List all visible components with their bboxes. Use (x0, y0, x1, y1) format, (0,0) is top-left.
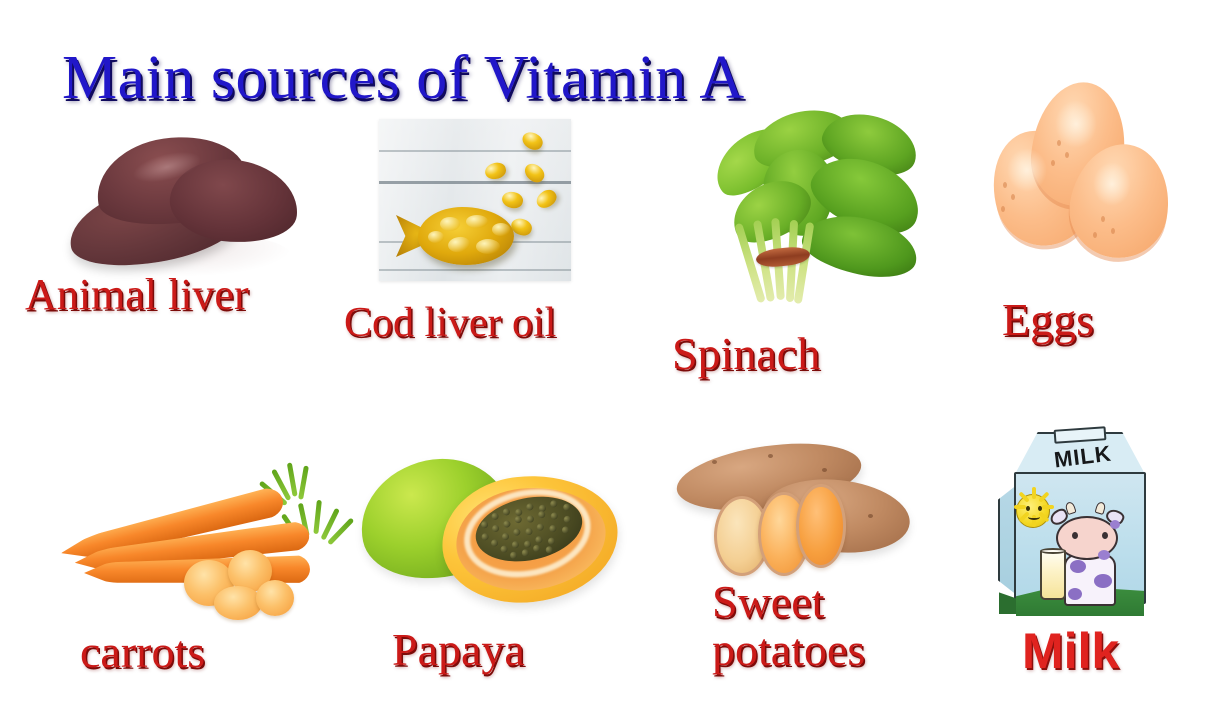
papaya-seed (513, 528, 521, 536)
label-animal-liver: Animal liver (25, 272, 249, 318)
page-title: Main sources of Vitamin A (62, 47, 745, 109)
papaya-seed (532, 544, 540, 552)
cow-eye (1072, 532, 1078, 539)
cow-spot (1094, 574, 1112, 588)
three-eggs-illustration (993, 82, 1179, 262)
skin-spot (822, 468, 827, 472)
spinach-bunch-photo (706, 110, 928, 310)
skin-spot (868, 514, 873, 518)
label-sweet-potatoes: Sweet potatoes (712, 578, 865, 674)
papaya-seed (550, 512, 558, 520)
papaya-seed (547, 537, 555, 545)
papaya-seed (538, 510, 546, 518)
poster-canvas: Main sources of Vitamin A Animal liver (0, 0, 1219, 725)
papaya-seed (502, 508, 510, 516)
sweet-potatoes-photo (672, 444, 910, 596)
papaya-seed (500, 545, 508, 553)
egg-speckle (1065, 152, 1069, 158)
papaya-seed (509, 551, 517, 559)
capsule-cluster (428, 231, 444, 243)
papaya-seed (514, 515, 522, 523)
egg-speckle (1101, 216, 1105, 222)
capsule-cluster (492, 223, 510, 236)
capsule-cluster (440, 217, 460, 231)
label-spinach: Spinach (672, 330, 820, 378)
cow-eye (1102, 532, 1108, 539)
papaya-seed (521, 549, 529, 557)
plank-line (379, 150, 571, 152)
cow-spot (1068, 588, 1082, 600)
skin-spot (712, 460, 717, 464)
egg-speckle (1093, 232, 1097, 238)
papaya-seed (511, 541, 519, 549)
papaya-seed (536, 523, 544, 531)
papaya-seed (550, 500, 558, 508)
label-eggs: Eggs (1002, 296, 1094, 344)
carrots-photo (50, 440, 340, 620)
spinach-stalks (738, 218, 834, 306)
carrot-green-leaf (313, 500, 322, 534)
capsule-cluster (476, 239, 500, 254)
sun-ray (1014, 505, 1026, 509)
sun-icon (1016, 494, 1050, 528)
papaya-seed (501, 532, 509, 540)
papaya-seed (526, 503, 534, 511)
egg-speckle (1057, 140, 1061, 146)
fish-shaped-dish (396, 207, 514, 269)
plank-line (379, 181, 571, 184)
egg-highlight (1007, 148, 1047, 192)
papaya-seed (481, 533, 489, 541)
sun-ray (1032, 487, 1036, 499)
cod-liver-oil-capsules-photo (379, 119, 571, 281)
carrot-green-leaf (287, 462, 298, 496)
animal-liver-photo (62, 132, 302, 277)
egg-speckle (1051, 160, 1055, 166)
sun-ray (1042, 505, 1054, 509)
papaya-seed (523, 540, 531, 548)
carrot-green-leaf (298, 465, 309, 499)
papaya-seed (563, 503, 571, 511)
carrot-slice (256, 580, 294, 616)
papaya-seed (563, 515, 571, 523)
milk-carton-cartoon: MILK (998, 428, 1168, 618)
egg-speckle (1003, 182, 1007, 188)
papaya-seed (490, 539, 498, 547)
papaya-seed (535, 536, 543, 544)
papaya-seed (526, 515, 534, 523)
egg-speckle (1011, 194, 1015, 200)
cow-spot (1098, 550, 1110, 560)
papaya-seed (545, 546, 553, 554)
papaya-seed (525, 527, 533, 535)
skin-spot (768, 454, 773, 458)
label-milk: Milk (1022, 625, 1119, 677)
sun-eye (1026, 506, 1030, 511)
milk-glass (1040, 550, 1066, 600)
sweet-potato-slice (796, 484, 846, 568)
capsule-cluster (466, 215, 488, 228)
egg-speckle (1001, 206, 1005, 212)
plank-line (379, 269, 571, 271)
label-papaya: Papaya (392, 626, 525, 674)
egg-highlight (1055, 100, 1097, 148)
papaya-seed (480, 521, 488, 529)
label-cod-liver-oil: Cod liver oil (344, 302, 556, 346)
cow-spot (1070, 560, 1086, 573)
carrot-slice (214, 586, 262, 620)
egg-highlight (1093, 162, 1131, 206)
cow-spot (1110, 520, 1120, 529)
label-carrots: carrots (80, 628, 205, 676)
egg-speckle (1111, 228, 1115, 234)
papaya-seed (491, 512, 499, 520)
papaya-seed (549, 524, 557, 532)
sun-smile (1028, 514, 1040, 520)
papaya-seed (491, 524, 499, 532)
papaya-halved-photo (358, 452, 620, 620)
papaya-seed (561, 526, 569, 534)
sun-eye (1038, 506, 1042, 511)
milk-glass-rim (1040, 548, 1066, 554)
papaya-seed (503, 520, 511, 528)
